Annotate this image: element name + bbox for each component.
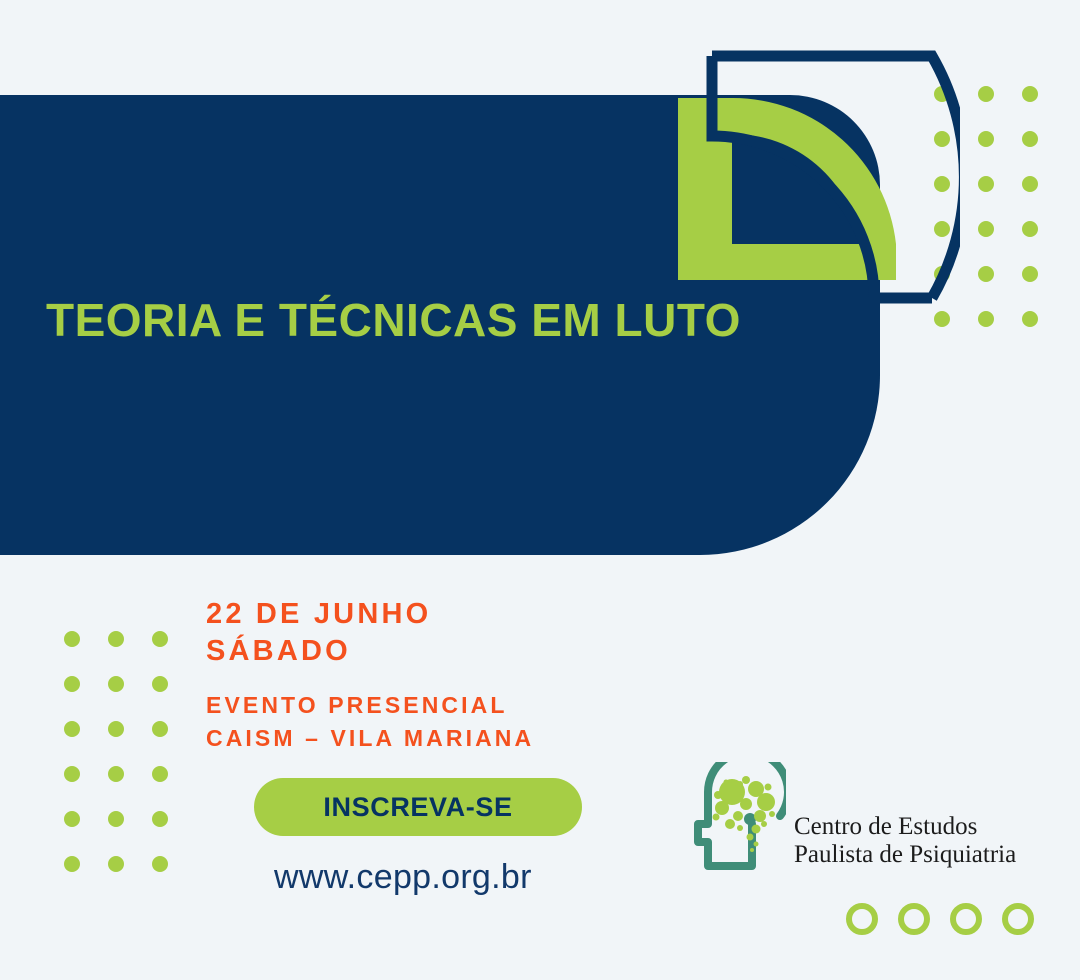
page-title: TEORIA E TÉCNICAS EM LUTO bbox=[46, 295, 741, 346]
decorative-dot bbox=[934, 266, 950, 282]
brain-head-icon bbox=[694, 762, 786, 875]
decorative-ring-row bbox=[846, 903, 1034, 935]
decorative-dot bbox=[978, 221, 994, 237]
decorative-dot bbox=[934, 176, 950, 192]
decorative-dot bbox=[1022, 311, 1038, 327]
decorative-dot bbox=[1022, 176, 1038, 192]
decorative-dot bbox=[152, 676, 168, 692]
decorative-dot bbox=[152, 766, 168, 782]
decorative-dot bbox=[978, 266, 994, 282]
decorative-dot bbox=[934, 86, 950, 102]
decorative-dot bbox=[64, 766, 80, 782]
event-venue: CAISM – VILA MARIANA bbox=[206, 722, 534, 755]
decorative-dot bbox=[978, 311, 994, 327]
decorative-dot bbox=[108, 631, 124, 647]
decorative-dot bbox=[64, 811, 80, 827]
decorative-dot bbox=[1022, 131, 1038, 147]
decorative-dot bbox=[934, 311, 950, 327]
event-venue-block: EVENTO PRESENCIAL CAISM – VILA MARIANA bbox=[206, 689, 534, 754]
decorative-ring bbox=[846, 903, 878, 935]
decorative-dot bbox=[1022, 266, 1038, 282]
decorative-dot bbox=[64, 856, 80, 872]
organization-logo: Centro de Estudos Paulista de Psiquiatri… bbox=[694, 762, 1016, 875]
decorative-dot bbox=[978, 86, 994, 102]
decorative-dot bbox=[152, 721, 168, 737]
decorative-dot bbox=[152, 631, 168, 647]
event-info-block: 22 DE JUNHO SÁBADO EVENTO PRESENCIAL CAI… bbox=[206, 596, 534, 755]
decorative-dot bbox=[108, 721, 124, 737]
decorative-dot bbox=[934, 131, 950, 147]
decorative-ring bbox=[898, 903, 930, 935]
decorative-ring bbox=[950, 903, 982, 935]
decorative-dot bbox=[108, 856, 124, 872]
decorative-dot bbox=[108, 676, 124, 692]
dot-grid-top-right bbox=[934, 86, 1066, 356]
decorative-dot bbox=[934, 221, 950, 237]
decorative-dot bbox=[108, 811, 124, 827]
logo-line-2: Paulista de Psiquiatria bbox=[794, 841, 1016, 868]
decorative-dot bbox=[64, 631, 80, 647]
decorative-dot bbox=[152, 856, 168, 872]
decorative-dot bbox=[978, 176, 994, 192]
event-format: EVENTO PRESENCIAL bbox=[206, 689, 534, 722]
event-date: 22 DE JUNHO bbox=[206, 596, 534, 633]
decorative-dot bbox=[64, 676, 80, 692]
dot-grid-bottom-left bbox=[64, 631, 196, 901]
poster-canvas: TEORIA E TÉCNICAS EM LUTO bbox=[0, 0, 1080, 980]
logo-line-1: Centro de Estudos bbox=[794, 813, 977, 840]
register-button[interactable]: INSCREVA-SE bbox=[254, 778, 582, 836]
decorative-dot bbox=[108, 766, 124, 782]
event-weekday: SÁBADO bbox=[206, 633, 534, 670]
decorative-dot bbox=[64, 721, 80, 737]
decorative-dot bbox=[1022, 221, 1038, 237]
logo-wordmark: Centro de Estudos Paulista de Psiquiatri… bbox=[794, 813, 1016, 869]
decorative-dot bbox=[978, 131, 994, 147]
decorative-dot bbox=[152, 811, 168, 827]
decorative-dot bbox=[1022, 86, 1038, 102]
website-link[interactable]: www.cepp.org.br bbox=[274, 858, 532, 897]
decorative-ring bbox=[1002, 903, 1034, 935]
